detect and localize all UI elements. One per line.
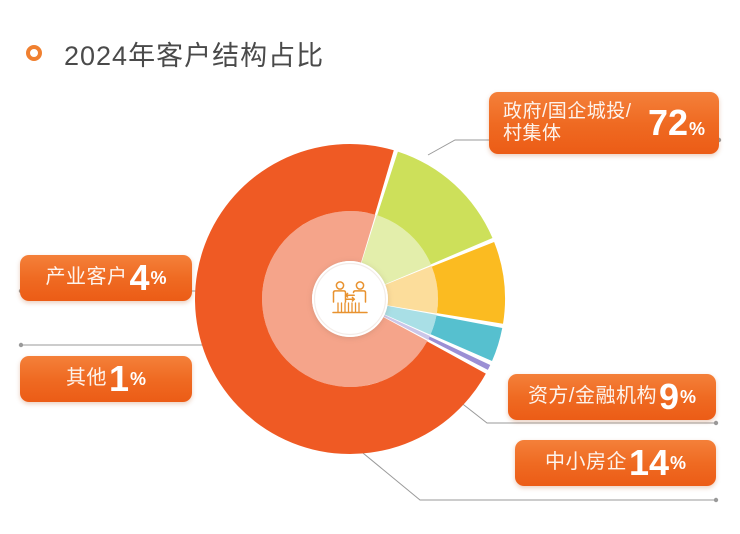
leader-dot-other <box>19 343 23 347</box>
leader-dot-fin <box>714 421 718 425</box>
slice-label-dev-name: 中小房企 <box>545 451 627 475</box>
slice-label-industry-unit: % <box>151 268 167 289</box>
slice-label-industry-name: 产业客户 <box>45 266 127 290</box>
slice-label-other-value: 1 <box>109 361 129 397</box>
slice-label-industry[interactable]: 产业客户 4 % <box>20 255 192 301</box>
slice-label-dev[interactable]: 中小房企 14 % <box>515 440 716 486</box>
slice-label-gov[interactable]: 政府/国企城投/ 村集体 72 % <box>489 92 719 154</box>
slice-label-fin[interactable]: 资方/金融机构 9 % <box>508 374 716 420</box>
leader-dot-dev <box>714 498 718 502</box>
slice-label-gov-value-wrap: 72 % <box>646 105 705 141</box>
slice-label-other-name: 其他 <box>66 367 107 391</box>
slice-label-gov-value: 72 <box>648 105 688 141</box>
slice-label-industry-value: 4 <box>129 260 149 296</box>
slice-label-fin-value: 9 <box>659 379 679 415</box>
slice-label-other-unit: % <box>130 369 146 390</box>
slice-label-fin-name: 资方/金融机构 <box>528 385 657 409</box>
slice-label-gov-unit: % <box>689 119 705 140</box>
slice-label-other[interactable]: 其他 1 % <box>20 356 192 402</box>
slice-label-dev-value: 14 <box>629 445 669 481</box>
slice-label-fin-unit: % <box>680 387 696 408</box>
slice-label-dev-unit: % <box>670 453 686 474</box>
slice-label-gov-name: 政府/国企城投/ 村集体 <box>503 101 646 146</box>
